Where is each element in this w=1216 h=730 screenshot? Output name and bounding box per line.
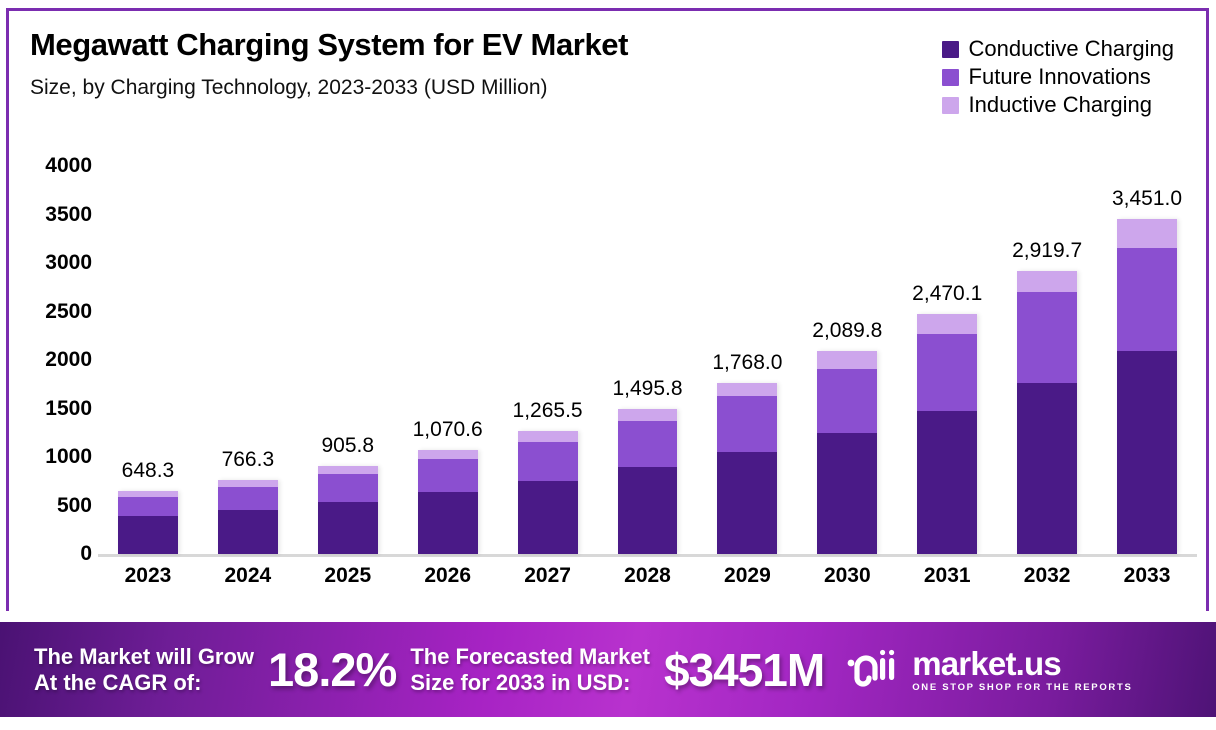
cagr-caption-line2: At the CAGR of:: [34, 670, 254, 696]
market-us-logo[interactable]: market.us ONE STOP SHOP FOR THE REPORTS: [844, 647, 1132, 693]
bar-stack-2030: [817, 351, 877, 554]
legend-item-inductive[interactable]: Inductive Charging: [942, 94, 1152, 116]
footer-banner: The Market will Grow At the CAGR of: 18.…: [0, 622, 1216, 717]
forecast-value: $3451M: [664, 647, 824, 693]
bar-segment-2026-conductive-charging: [418, 492, 478, 554]
bar-value-2032: 2,919.7: [1012, 239, 1082, 263]
cagr-caption-line1: The Market will Grow: [34, 644, 254, 670]
forecast-caption-line1: The Forecasted Market: [410, 644, 650, 670]
bar-value-2023: 648.3: [122, 459, 175, 483]
bar-value-2028: 1,495.8: [612, 377, 682, 401]
y-tick-500: 500: [57, 494, 92, 518]
bar-segment-2030-conductive-charging: [817, 433, 877, 554]
bar-segment-2025-conductive-charging: [318, 502, 378, 554]
bar-segment-2032-inductive-charging: [1017, 271, 1077, 292]
legend-swatch-future: [942, 69, 959, 86]
bar-segment-2028-future-innovations: [618, 421, 678, 467]
bar-group-2030[interactable]: [817, 351, 877, 554]
bar-value-2027: 1,265.5: [513, 399, 583, 423]
y-tick-2000: 2000: [45, 348, 92, 372]
cagr-caption: The Market will Grow At the CAGR of:: [34, 644, 254, 696]
y-tick-0: 0: [80, 542, 92, 566]
plot-area: 40003500300025002000150010005000 648.376…: [6, 160, 1209, 610]
bar-stack-2026: [418, 450, 478, 554]
bar-group-2033[interactable]: [1117, 219, 1177, 554]
bar-stack-2027: [518, 431, 578, 554]
bar-group-2024[interactable]: [218, 480, 278, 554]
bar-segment-2026-future-innovations: [418, 459, 478, 492]
bar-value-2033: 3,451.0: [1112, 187, 1182, 211]
bar-segment-2025-future-innovations: [318, 474, 378, 502]
bar-segment-2029-conductive-charging: [717, 452, 777, 554]
bar-segment-2029-inductive-charging: [717, 383, 777, 397]
bar-value-2029: 1,768.0: [712, 351, 782, 375]
x-axis-baseline: [98, 554, 1197, 557]
logo-tagline: ONE STOP SHOP FOR THE REPORTS: [912, 683, 1132, 693]
bar-segment-2024-conductive-charging: [218, 510, 278, 554]
bar-group-2025[interactable]: [318, 466, 378, 554]
x-label-2027: 2027: [524, 564, 571, 588]
bar-value-2031: 2,470.1: [912, 282, 982, 306]
legend-item-future[interactable]: Future Innovations: [942, 66, 1151, 88]
bar-segment-2032-future-innovations: [1017, 292, 1077, 383]
x-label-2026: 2026: [424, 564, 471, 588]
y-tick-1000: 1000: [45, 445, 92, 469]
bar-segment-2028-inductive-charging: [618, 409, 678, 421]
bar-segment-2027-inductive-charging: [518, 431, 578, 442]
bar-segment-2031-future-innovations: [917, 334, 977, 411]
page-title: Megawatt Charging System for EV Market: [30, 28, 830, 63]
infographic-root: Megawatt Charging System for EV Market S…: [0, 0, 1216, 730]
y-axis: 40003500300025002000150010005000: [6, 160, 92, 558]
bar-segment-2024-inductive-charging: [218, 480, 278, 487]
x-label-2023: 2023: [125, 564, 172, 588]
bar-group-2026[interactable]: [418, 450, 478, 554]
y-tick-1500: 1500: [45, 397, 92, 421]
legend-swatch-conductive: [942, 41, 959, 58]
legend-label-inductive: Inductive Charging: [969, 94, 1152, 116]
bar-value-2024: 766.3: [222, 448, 275, 472]
y-tick-4000: 4000: [45, 154, 92, 178]
bar-group-2027[interactable]: [518, 431, 578, 554]
logo-wordmark: market.us: [912, 647, 1132, 680]
bar-segment-2027-future-innovations: [518, 442, 578, 481]
bar-segment-2030-future-innovations: [817, 369, 877, 434]
bars-area: 648.3766.3905.81,070.61,265.51,495.81,76…: [98, 160, 1197, 557]
bar-stack-2024: [218, 480, 278, 554]
bar-segment-2025-inductive-charging: [318, 466, 378, 474]
bar-group-2028[interactable]: [618, 409, 678, 554]
bar-stack-2029: [717, 383, 777, 554]
y-tick-3000: 3000: [45, 251, 92, 275]
y-tick-2500: 2500: [45, 300, 92, 324]
bar-segment-2026-inductive-charging: [418, 450, 478, 459]
cagr-value: 18.2%: [268, 646, 396, 693]
bar-group-2032[interactable]: [1017, 271, 1077, 554]
legend-swatch-inductive: [942, 97, 959, 114]
bar-stack-2032: [1017, 271, 1077, 554]
bar-stack-2033: [1117, 219, 1177, 554]
bar-segment-2030-inductive-charging: [817, 351, 877, 368]
bar-value-2025: 905.8: [321, 434, 374, 458]
x-axis-labels: 2023202420252026202720282029203020312032…: [98, 564, 1197, 596]
forecast-caption: The Forecasted Market Size for 2033 in U…: [410, 644, 650, 696]
x-label-2030: 2030: [824, 564, 871, 588]
bar-group-2029[interactable]: [717, 383, 777, 554]
bar-segment-2028-conductive-charging: [618, 467, 678, 554]
chart-subtitle: Size, by Charging Technology, 2023-2033 …: [30, 76, 830, 99]
x-label-2033: 2033: [1124, 564, 1171, 588]
bar-value-2026: 1,070.6: [413, 418, 483, 442]
bar-segment-2031-inductive-charging: [917, 314, 977, 334]
bar-segment-2033-future-innovations: [1117, 248, 1177, 350]
x-label-2029: 2029: [724, 564, 771, 588]
bar-stack-2023: [118, 491, 178, 554]
bar-group-2031[interactable]: [917, 314, 977, 554]
forecast-caption-line2: Size for 2033 in USD:: [410, 670, 650, 696]
x-label-2025: 2025: [324, 564, 371, 588]
bar-segment-2033-inductive-charging: [1117, 219, 1177, 248]
x-label-2024: 2024: [225, 564, 272, 588]
bar-segment-2032-conductive-charging: [1017, 383, 1077, 554]
bar-segment-2029-future-innovations: [717, 396, 777, 451]
legend-label-conductive: Conductive Charging: [969, 38, 1174, 60]
bar-stack-2028: [618, 409, 678, 554]
bar-stack-2031: [917, 314, 977, 554]
bar-segment-2024-future-innovations: [218, 487, 278, 510]
bar-value-2030: 2,089.8: [812, 319, 882, 343]
y-tick-3500: 3500: [45, 203, 92, 227]
bar-stack-2025: [318, 466, 378, 554]
chart-header: Megawatt Charging System for EV Market S…: [30, 28, 830, 99]
x-label-2028: 2028: [624, 564, 671, 588]
bar-segment-2027-conductive-charging: [518, 481, 578, 554]
x-label-2032: 2032: [1024, 564, 1071, 588]
bar-segment-2023-future-innovations: [118, 497, 178, 516]
bar-group-2023[interactable]: [118, 491, 178, 554]
bar-segment-2033-conductive-charging: [1117, 351, 1177, 554]
bar-segment-2023-conductive-charging: [118, 516, 178, 554]
legend-label-future: Future Innovations: [969, 66, 1151, 88]
market-us-logo-mark: [844, 648, 902, 692]
bar-segment-2031-conductive-charging: [917, 411, 977, 554]
x-label-2031: 2031: [924, 564, 971, 588]
chart-legend: Conductive ChargingFuture InnovationsInd…: [942, 38, 1174, 116]
legend-item-conductive[interactable]: Conductive Charging: [942, 38, 1174, 60]
